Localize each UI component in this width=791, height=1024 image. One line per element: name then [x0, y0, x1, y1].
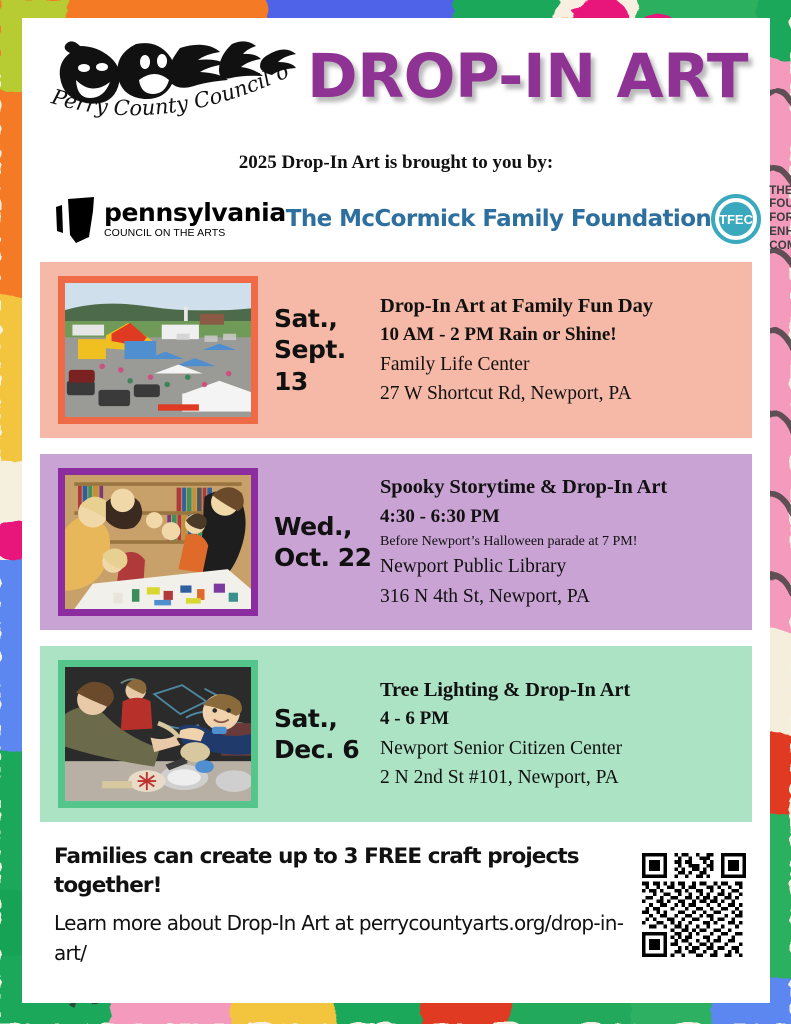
event-details: Tree Lighting & Drop-In Art 4 - 6 PM New…: [376, 676, 742, 793]
page-title: DROP-IN ART: [298, 46, 752, 107]
event-venue: Newport Public Library: [380, 552, 742, 581]
sponsor-tfec: TFEC THE FOUNDATION FOR ENHANCING COMMUN…: [711, 185, 791, 254]
sponsor-pa-council-on-the-arts: pennsylvania COUNCIL ON THE ARTS: [54, 193, 286, 245]
sponsor-mccormick-name: The McCormick Family Foundation: [286, 206, 711, 232]
event-row: Sat., Sept. 13 Drop-In Art at Family Fun…: [40, 262, 752, 438]
poster-card: Perry County Council of the Arts DROP-IN…: [22, 18, 770, 1003]
sponsor-pa-subtitle: COUNCIL ON THE ARTS: [104, 227, 286, 239]
perry-county-council-of-the-arts-logo: Perry County Council of the Arts: [40, 28, 298, 128]
event-photo-family-fun-day: [58, 276, 258, 424]
poster-header: Perry County Council of the Arts DROP-IN…: [40, 28, 752, 132]
event-details: Drop-In Art at Family Fun Day 10 AM - 2 …: [376, 292, 742, 409]
event-date-value: Oct. 22: [274, 542, 376, 573]
poster-footer: Families can create up to 3 FREE craft p…: [40, 838, 752, 968]
sponsor-pa-name: pennsylvania: [104, 200, 286, 225]
tfec-circle-icon: TFEC: [711, 194, 761, 244]
event-date: Sat., Dec. 6: [258, 703, 376, 766]
event-time: 10 AM - 2 PM Rain or Shine!: [380, 321, 742, 350]
event-note: Before Newport’s Halloween parade at 7 P…: [380, 531, 742, 552]
event-date: Wed., Oct. 22: [258, 511, 376, 574]
sponsor-heading: 2025 Drop-In Art is brought to you by:: [40, 152, 752, 174]
event-address: 316 N 4th St, Newport, PA: [380, 582, 742, 611]
tfec-line-1: THE FOUNDATION: [769, 185, 791, 213]
event-venue: Newport Senior Citizen Center: [380, 734, 742, 763]
sponsor-mccormick-family-foundation: The McCormick Family Foundation: [286, 206, 711, 232]
footer-headline: Families can create up to 3 FREE craft p…: [54, 842, 634, 900]
event-venue: Family Life Center: [380, 350, 742, 379]
event-list: Sat., Sept. 13 Drop-In Art at Family Fun…: [40, 262, 752, 822]
event-title: Tree Lighting & Drop-In Art: [380, 676, 742, 706]
event-details: Spooky Storytime & Drop-In Art 4:30 - 6:…: [376, 473, 742, 611]
event-date: Sat., Sept. 13: [258, 303, 376, 397]
footer-learn-more: Learn more about Drop-In Art at perrycou…: [54, 908, 634, 968]
event-day: Wed.,: [274, 511, 376, 542]
event-address: 2 N 2nd St #101, Newport, PA: [380, 763, 742, 792]
event-day: Sat.,: [274, 303, 376, 334]
event-photo-yarn-craft: [58, 660, 258, 808]
event-day: Sat.,: [274, 703, 376, 734]
event-time: 4 - 6 PM: [380, 705, 742, 734]
event-row: Wed., Oct. 22 Spooky Storytime & Drop-In…: [40, 454, 752, 630]
svg-text:TFEC: TFEC: [719, 212, 754, 227]
tfec-line-2: FOR ENHANCING: [769, 212, 791, 240]
event-date-value: Dec. 6: [274, 734, 376, 765]
tfec-line-3: COMMUNITIES: [769, 240, 791, 254]
event-title: Drop-In Art at Family Fun Day: [380, 292, 742, 322]
event-title: Spooky Storytime & Drop-In Art: [380, 473, 742, 503]
event-photo-library-craft: [58, 468, 258, 616]
sponsor-logo-row: pennsylvania COUNCIL ON THE ARTS The McC…: [40, 190, 752, 248]
event-time: 4:30 - 6:30 PM: [380, 503, 742, 532]
pa-keystone-icon: [54, 193, 100, 245]
footer-text-block: Families can create up to 3 FREE craft p…: [54, 842, 634, 968]
event-address: 27 W Shortcut Rd, Newport, PA: [380, 379, 742, 408]
qr-code-icon[interactable]: [642, 853, 746, 957]
event-date-value: Sept. 13: [274, 334, 376, 397]
event-row: Sat., Dec. 6 Tree Lighting & Drop-In Art…: [40, 646, 752, 822]
